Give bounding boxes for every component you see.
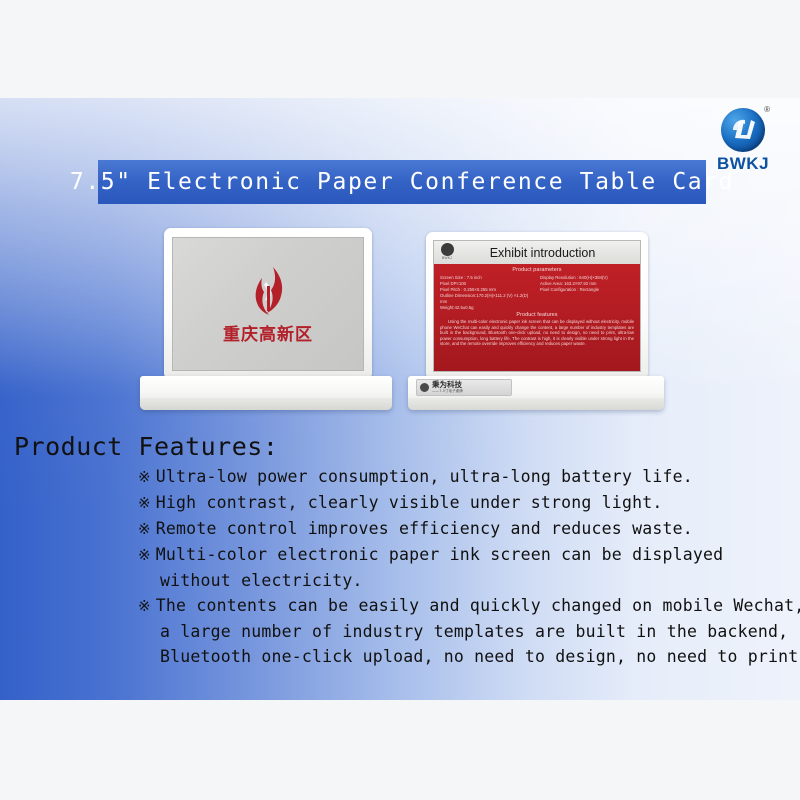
feature-bullet-icon: ※ <box>138 520 151 538</box>
exhibit-body: Product parameters Screen Size : 7.5 inc… <box>434 264 640 371</box>
parameter-row: Outline Dimension:170.2(H)×111.2 (V) ×1.… <box>440 293 534 305</box>
device-left-stand-front <box>140 398 392 410</box>
feature-text: Ultra-low power consumption, ultra-long … <box>156 467 693 486</box>
exhibit-header-logo: BWKJ <box>439 243 455 262</box>
parameters-table: Screen Size : 7.5 inch Pixel DPI:100 Pix… <box>440 275 634 311</box>
device-left-stand <box>140 376 392 410</box>
feature-item: ※Ultra-low power consumption, ultra-long… <box>138 464 788 490</box>
device-right-stand: 秉为科技 ——7.5寸电子桌牌 <box>408 376 664 410</box>
device-left-screen: 重庆高新区 <box>172 237 364 371</box>
stand-sticker-text: 秉为科技 ——7.5寸电子桌牌 <box>432 381 463 394</box>
features-list: ※Ultra-low power consumption, ultra-long… <box>138 464 788 669</box>
product-photo: 重庆高新区 BWKJ Exhibit introduction <box>120 228 700 428</box>
feature-text: Remote control improves efficiency and r… <box>156 519 693 538</box>
feature-text: The contents can be easily and quickly c… <box>156 596 800 615</box>
chongqing-flame-emblem-icon <box>240 264 296 326</box>
feature-bullet-icon: ※ <box>138 546 151 564</box>
device-left-bezel: 重庆高新区 <box>164 228 372 380</box>
parameter-row: Pixel Configuration : Rectangle <box>540 287 634 293</box>
feature-item: ※High contrast, clearly visible under st… <box>138 490 788 516</box>
stand-sticker-brand: 秉为科技 <box>432 381 463 389</box>
feature-item: ※Multi-color electronic paper ink screen… <box>138 542 788 593</box>
device-right-stand-front <box>408 398 664 410</box>
feature-text-continuation: a large number of industry templates are… <box>138 619 788 644</box>
screen-features-heading: Product features <box>440 312 634 318</box>
feature-item: ※Remote control improves efficiency and … <box>138 516 788 542</box>
feature-text-continuation: without electricity. <box>138 568 788 593</box>
screen-features-text: Using the multi-color electronic paper i… <box>440 319 634 347</box>
device-left-screen-caption: 重庆高新区 <box>223 327 313 344</box>
feature-bullet-icon: ※ <box>138 494 151 512</box>
feature-text-continuation: Bluetooth one-click upload, no need to d… <box>138 644 788 669</box>
feature-bullet-icon: ※ <box>138 597 151 615</box>
features-heading: Product Features: <box>14 432 278 461</box>
feature-item: ※The contents can be easily and quickly … <box>138 593 788 669</box>
feature-text: High contrast, clearly visible under str… <box>156 493 663 512</box>
feature-bullet-icon: ※ <box>138 468 151 486</box>
device-left: 重庆高新区 <box>140 228 392 424</box>
device-right-screen: BWKJ Exhibit introduction Product parame… <box>433 240 641 372</box>
exhibit-header-title: Exhibit introduction <box>459 246 640 260</box>
registered-trademark-icon: ® <box>764 105 770 114</box>
parameters-heading: Product parameters <box>440 267 634 273</box>
feature-text: Multi-color electronic paper ink screen … <box>156 545 724 564</box>
parameter-row: Weight:42.5±0.5g <box>440 305 534 311</box>
title-banner: 7.5" Electronic Paper Conference Table C… <box>98 160 706 204</box>
parameters-column-left: Screen Size : 7.5 inch Pixel DPI:100 Pix… <box>440 275 534 311</box>
exhibit-header-brand: BWKJ <box>439 256 455 261</box>
product-marketing-image: ® BWKJ 7.5" Electronic Paper Conference … <box>0 0 800 800</box>
page-title: 7.5" Electronic Paper Conference Table C… <box>70 169 734 195</box>
parameters-column-right: Display Resolution : 640(H)×384(V) Activ… <box>540 275 634 311</box>
device-right: BWKJ Exhibit introduction Product parame… <box>408 232 664 428</box>
bwkj-glyph-icon <box>721 108 765 152</box>
bwkj-logo-sticker-icon <box>420 383 429 392</box>
brand-logo-mark: ® <box>721 108 765 152</box>
stand-sticker: 秉为科技 ——7.5寸电子桌牌 <box>416 379 512 396</box>
bwkj-logo-dark-icon <box>441 243 454 256</box>
exhibit-header-bar: BWKJ Exhibit introduction <box>434 241 640 264</box>
brand-logo: ® BWKJ <box>700 108 786 178</box>
stand-sticker-subtitle: ——7.5寸电子桌牌 <box>432 389 463 394</box>
device-right-bezel: BWKJ Exhibit introduction Product parame… <box>426 232 648 380</box>
